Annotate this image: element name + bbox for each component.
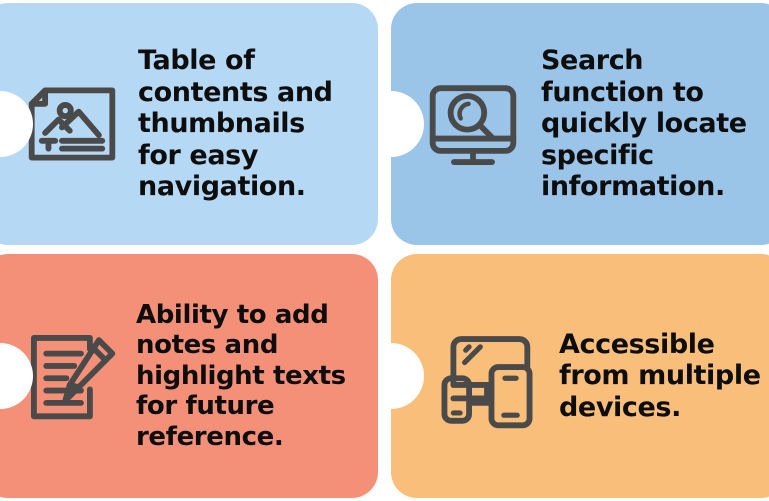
feature-card-board: Table of contents and thumbnails for eas… xyxy=(0,0,769,501)
multiple-devices-icon xyxy=(427,316,547,436)
monitor-search-icon xyxy=(413,64,533,184)
feature-card-search-function[interactable]: Search function to quickly locate specif… xyxy=(391,3,769,245)
feature-card-text: Ability to add notes and highlight texts… xyxy=(136,300,378,452)
feature-card-multi-device-access[interactable]: Accessible from multiple devices. xyxy=(391,254,769,498)
feature-card-table-of-contents[interactable]: Table of contents and thumbnails for eas… xyxy=(0,3,378,245)
feature-card-text: Accessible from multiple devices. xyxy=(559,329,769,424)
feature-card-text: Search function to quickly locate specif… xyxy=(541,45,769,203)
feature-card-text: Table of contents and thumbnails for eas… xyxy=(138,45,378,203)
card-notch xyxy=(391,343,424,409)
feature-card-notes-and-highlights[interactable]: Ability to add notes and highlight texts… xyxy=(0,254,378,498)
